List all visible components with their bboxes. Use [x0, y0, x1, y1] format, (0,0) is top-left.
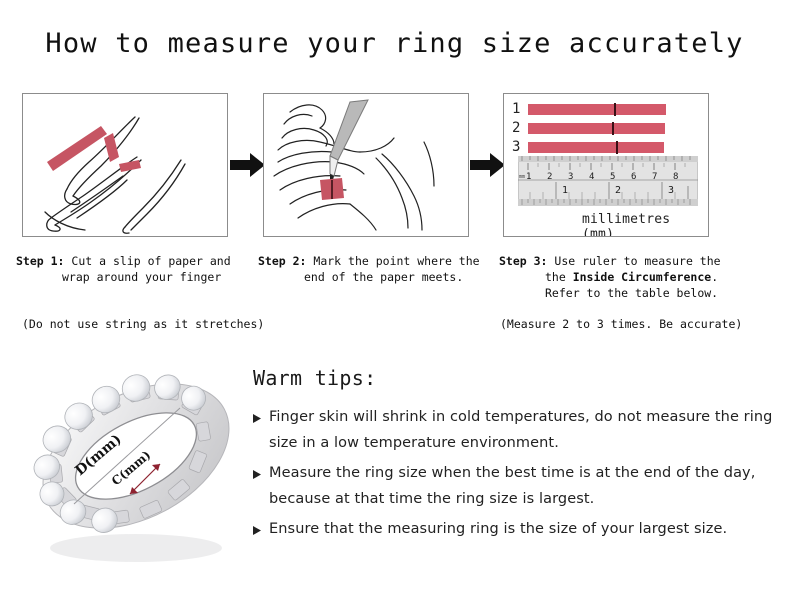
svg-text:3: 3 — [568, 172, 573, 182]
millimetres-unit-label: millimetres (mm) — [582, 212, 708, 237]
step-1-note: (Do not use string as it stretches) — [22, 317, 264, 331]
step-3-note: (Measure 2 to 3 times. Be accurate) — [500, 317, 742, 331]
arrow-step1-to-step2-icon — [230, 152, 266, 178]
strip-1-mark — [614, 103, 616, 116]
step-3-caption: Step 3: Use ruler to measure the the Ins… — [499, 253, 749, 301]
measured-strip-row-2: 2 — [512, 121, 665, 135]
pen — [330, 100, 368, 184]
paper-strip-3 — [528, 142, 664, 153]
step-3-line3: Refer to the table below. — [499, 285, 749, 301]
step-2-illustration-panel — [263, 93, 469, 237]
strip-3-mark — [616, 141, 618, 154]
step-1-line1: Cut a slip of paper and — [71, 254, 230, 268]
warm-tips-list: Finger skin will shrink in cold temperat… — [253, 404, 773, 546]
step-2-line1: Mark the point where the — [313, 254, 479, 268]
svg-text:2: 2 — [547, 172, 552, 182]
step-3-line1: Use ruler to measure the — [554, 254, 720, 268]
paper-strip-loose — [47, 126, 107, 171]
strip-number-1: 1 — [512, 102, 528, 116]
ring-diagram: D(mm) C(mm) — [18, 352, 250, 580]
measured-strip-row-3: 3 — [512, 140, 664, 154]
svg-text:5: 5 — [610, 172, 615, 182]
paper-strip-marked — [320, 178, 344, 200]
svg-text:3: 3 — [668, 185, 674, 196]
svg-text:8: 8 — [673, 172, 678, 182]
measured-strip-row-1: 1 — [512, 102, 666, 116]
step-1-illustration-panel — [22, 93, 228, 237]
page-title: How to measure your ring size accurately — [0, 28, 789, 59]
strip-number-2: 2 — [512, 121, 528, 135]
strip-number-3: 3 — [512, 140, 528, 154]
strip-2-mark — [612, 122, 614, 135]
warm-tip-text: Ensure that the measuring ring is the si… — [269, 516, 727, 542]
step-1-label: Step 1: — [16, 254, 64, 268]
svg-text:6: 6 — [631, 172, 636, 182]
paper-strip-wrapped — [104, 133, 141, 172]
ruler-mm-origin-label: mm — [519, 174, 525, 180]
svg-text:7: 7 — [652, 172, 657, 182]
step-1-line2: wrap around your finger — [16, 269, 246, 285]
warm-tips-heading: Warm tips: — [253, 366, 376, 390]
paper-strip-1 — [528, 104, 666, 115]
inside-circumference-emphasis: Inside Circumference — [573, 270, 711, 284]
warm-tip-item: Finger skin will shrink in cold temperat… — [253, 404, 773, 456]
arrow-step2-to-step3-icon — [470, 152, 506, 178]
ring-size-guide-page: How to measure your ring size accurately — [0, 0, 789, 606]
hand-with-paper-strip-drawing — [23, 94, 227, 236]
ruler-graphic: 12 34 56 78 mm 123 — [518, 156, 698, 206]
step-2-label: Step 2: — [258, 254, 306, 268]
warm-tip-text: Finger skin will shrink in cold temperat… — [269, 404, 773, 456]
step-3-label: Step 3: — [499, 254, 547, 268]
step-3-illustration-panel: 1 2 3 — [503, 93, 709, 237]
step-2-caption: Step 2: Mark the point where the end of … — [258, 253, 490, 285]
svg-text:1: 1 — [562, 185, 568, 196]
svg-text:2: 2 — [615, 185, 621, 196]
hand-marking-paper-with-pen-drawing — [264, 94, 468, 236]
step-3-line2: the Inside Circumference. — [499, 269, 749, 285]
paper-strip-2 — [528, 123, 665, 134]
step-3-line2-pre: the — [545, 270, 573, 284]
step-1-caption: Step 1: Cut a slip of paper and wrap aro… — [16, 253, 246, 285]
step-2-line2: end of the paper meets. — [258, 269, 490, 285]
warm-tip-item: Measure the ring size when the best time… — [253, 460, 773, 512]
warm-tip-item: Ensure that the measuring ring is the si… — [253, 516, 773, 542]
warm-tip-text: Measure the ring size when the best time… — [269, 460, 773, 512]
triangle-right-icon — [253, 516, 269, 539]
svg-text:1: 1 — [526, 172, 531, 182]
triangle-right-icon — [253, 460, 269, 483]
svg-text:4: 4 — [589, 172, 594, 182]
step-3-line2-post: . — [711, 270, 718, 284]
triangle-right-icon — [253, 404, 269, 427]
